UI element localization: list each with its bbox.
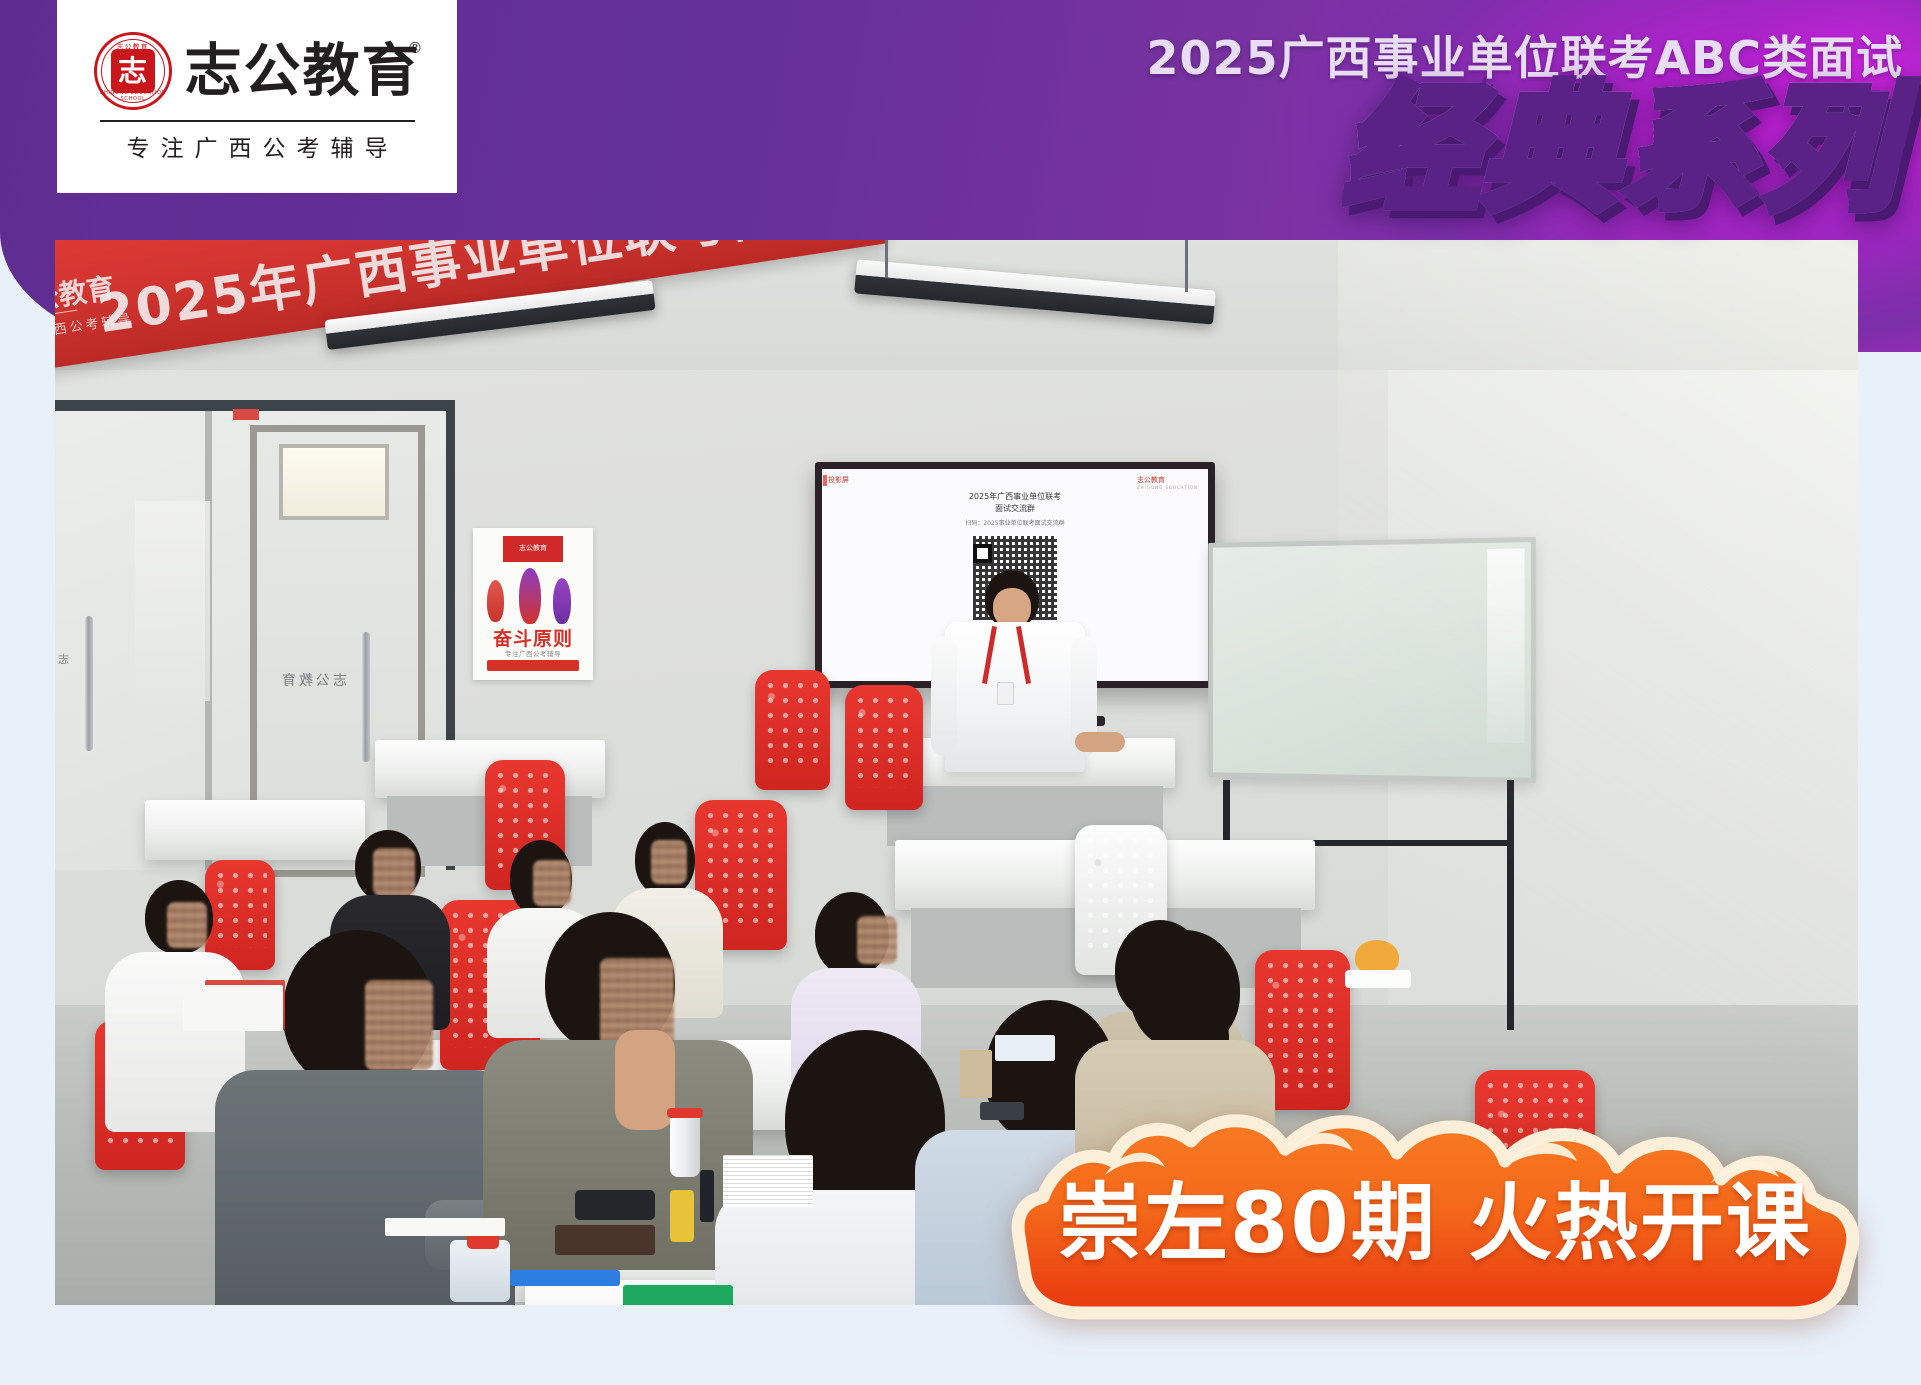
paper-sheet (183, 985, 283, 1031)
blue-folder (510, 1270, 620, 1286)
brand-tagline: 专注广西公考辅导 (116, 129, 399, 163)
cup-lid (667, 1108, 703, 1118)
student-face-blurred (365, 980, 433, 1070)
logo-divider (100, 120, 415, 122)
page-title: 经典系列 (1343, 82, 1899, 217)
desk-item (960, 1050, 992, 1098)
instructor-hand (1075, 732, 1125, 752)
whiteboard-glare (1487, 548, 1524, 743)
lamp-rod (885, 240, 888, 278)
poster-title: 奋斗原则 (473, 624, 593, 651)
whiteboard (1208, 537, 1536, 783)
chair-perforation (853, 693, 915, 788)
paper-sheet (385, 1218, 505, 1236)
chair-perforation (1263, 958, 1342, 1088)
door-handle (85, 616, 93, 751)
poster-header-text: 志公教育 (503, 543, 563, 553)
chair-perforation (213, 868, 267, 948)
display-logo-text: 志公教育 (1137, 476, 1165, 484)
wall-poster: 志公教育 奋斗原则 专注广西公考辅导 (473, 528, 593, 680)
registered-mark-icon: ® (408, 41, 425, 56)
course-badge-text: 崇左80期 火热开课 (985, 1181, 1885, 1265)
paper-cup (670, 1115, 700, 1177)
instructor-shirt (945, 622, 1085, 772)
display-logo-sub: ZHIGONG EDUCATION (1137, 485, 1198, 490)
seal-top-text: 志公教育 (97, 42, 169, 52)
door-window (279, 444, 389, 520)
poster-runner (519, 568, 541, 624)
notebook (555, 1225, 655, 1255)
course-badge: 崇左80期 火热开课 (985, 1105, 1885, 1320)
book-stack (723, 1155, 813, 1207)
id-badge (997, 682, 1014, 705)
brand-seal-icon: 志公教育 志 ZHIGONG EDUCATION SCHOOL (94, 32, 172, 110)
brand-name-text: 志公教育 (185, 38, 421, 104)
green-folder (623, 1285, 733, 1305)
smartphone (575, 1190, 655, 1220)
door-frost-text: 志公 (55, 651, 69, 667)
seal-character: 志 (111, 49, 155, 93)
exit-sign (233, 409, 259, 420)
display-line-1: 2025年广西事业单位联考 (822, 491, 1208, 503)
paper-sheet (995, 1035, 1055, 1061)
door-glass-panel (135, 501, 210, 701)
poster-header-block: 志公教育 (503, 536, 563, 562)
instructor-arm (931, 636, 957, 756)
student-face-blurred (651, 840, 687, 884)
yellow-item (670, 1190, 694, 1242)
student-face-blurred (857, 916, 897, 964)
qr-eye-icon (973, 544, 992, 563)
poster-subtitle: 专注广西公考辅导 (473, 648, 593, 658)
student-face-blurred (533, 860, 571, 906)
student-head (1130, 930, 1240, 1050)
poster-footer-bar (487, 660, 579, 671)
lamp-rod (1185, 240, 1188, 292)
student-arm (615, 1030, 675, 1130)
poster-runner (487, 580, 504, 622)
classroom-chair (755, 670, 830, 790)
brand-name: 志公教育® (185, 43, 421, 100)
classroom-chair (845, 685, 923, 810)
display-line-3: 扫码：2025事业单位联考面试交流群 (822, 519, 1208, 528)
poster-runner (553, 578, 571, 624)
student-face-blurred (373, 848, 415, 896)
display-tag: 投影屏 (828, 475, 849, 485)
chair-perforation (763, 678, 822, 768)
door-handle (362, 632, 370, 762)
logo-row: 志公教育 志 ZHIGONG EDUCATION SCHOOL 志公教育® (94, 32, 421, 110)
flower-pot (1345, 970, 1411, 988)
student-desk (145, 800, 365, 860)
display-logo: 志公教育 ZHIGONG EDUCATION (1137, 475, 1198, 490)
marker-pen (700, 1170, 714, 1222)
door-frost-text: 志公教育 (279, 670, 347, 690)
seal-bottom-text: ZHIGONG EDUCATION SCHOOL (98, 90, 166, 102)
whiteboard-leg (1507, 780, 1514, 1030)
flower-decor (1355, 940, 1399, 974)
display-line-2: 面试交流群 (822, 503, 1208, 515)
student-face-blurred (167, 902, 207, 948)
water-bottle (450, 1240, 510, 1302)
promo-poster: 志公教育 志 ZHIGONG EDUCATION SCHOOL 志公教育® 专注… (0, 0, 1921, 1385)
brand-logo-card: 志公教育 志 ZHIGONG EDUCATION SCHOOL 志公教育® 专注… (57, 0, 457, 193)
